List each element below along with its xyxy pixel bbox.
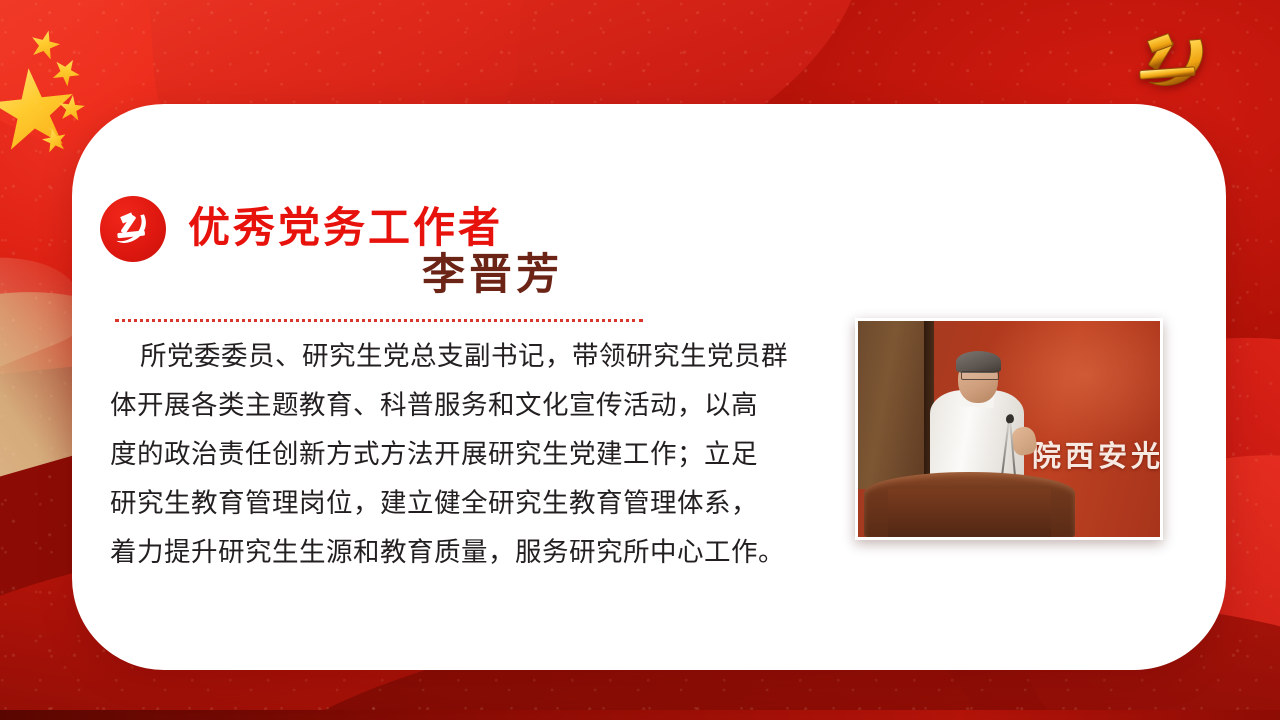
content-card: 优秀党务工作者 李晋芳 所党委委员、研究生党总支副书记，带领研究生党员群 体开展… [72, 104, 1226, 670]
photo-speaker-hair [956, 351, 1001, 373]
hammer-sickle-icon [100, 196, 166, 262]
person-name: 李晋芳 [422, 254, 563, 297]
biography-line: 体开展各类主题教育、科普服务和文化宣传活动，以高 [110, 381, 832, 430]
photo-scene: 院西安光 [858, 321, 1160, 537]
biography-line: 研究生教育管理岗位，建立健全研究生教育管理体系， [110, 479, 832, 528]
dotted-divider [115, 319, 643, 322]
bottom-edge-strip [0, 710, 1280, 720]
photo-side-panel [858, 321, 927, 489]
photo-speaker-glasses [961, 371, 999, 380]
page-title: 优秀党务工作者 [188, 208, 503, 250]
biography-text: 所党委委员、研究生党总支副书记，带领研究生党员群 体开展各类主题教育、科普服务和… [110, 332, 832, 577]
person-photo: 院西安光 [855, 318, 1163, 540]
biography-line: 度的政治责任创新方式方法开展研究生党建工作；立足 [110, 430, 832, 479]
biography-line: 着力提升研究生生源和教育质量，服务研究所中心工作。 [110, 528, 832, 577]
hammer-sickle-gold-icon [1126, 26, 1222, 102]
photo-podium-face [888, 489, 1051, 537]
slide-root: 优秀党务工作者 李晋芳 所党委委员、研究生党总支副书记，带领研究生党员群 体开展… [0, 0, 1280, 720]
biography-line: 所党委委员、研究生党总支副书记，带领研究生党员群 [110, 332, 832, 381]
photo-backdrop-text: 院西安光 [1032, 433, 1163, 475]
